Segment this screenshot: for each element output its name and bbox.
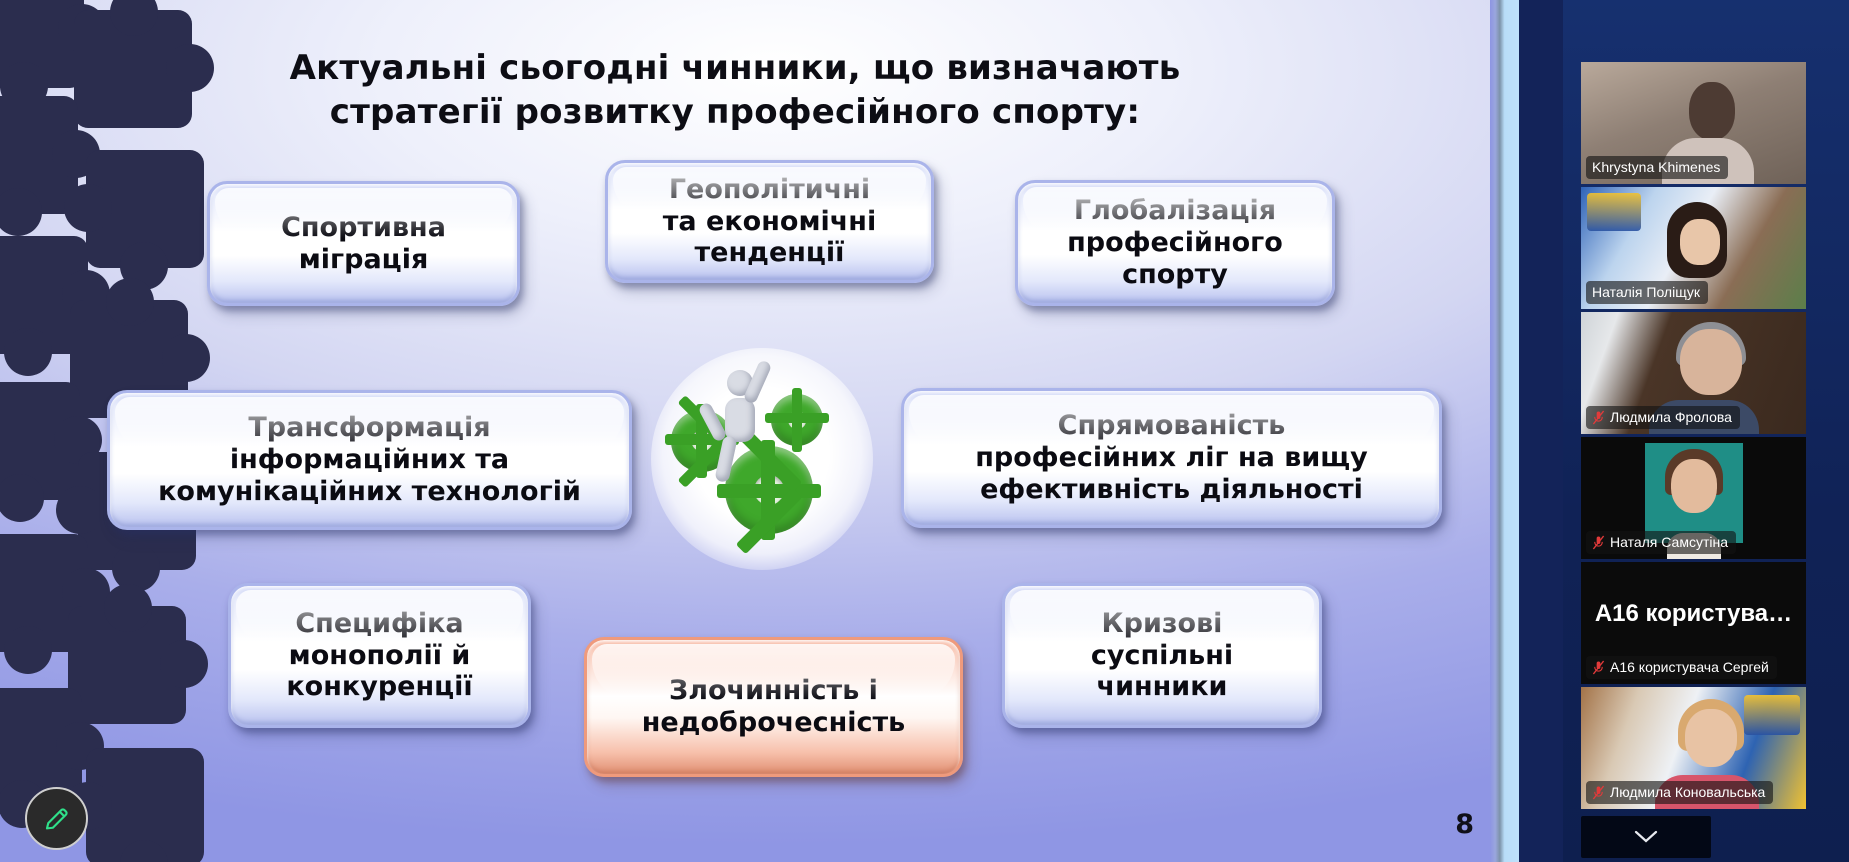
participant-name-badge: А16 користувача Сергей [1586,656,1777,679]
mic-muted-icon [1592,660,1605,675]
slide-number: 8 [1455,809,1474,840]
participant-tile[interactable]: Людмила Коновальська [1581,687,1806,809]
factor-box-league-efficiency[interactable]: Спрямованістьпрофесійних ліг на вищуефек… [901,388,1442,528]
scroll-down-button[interactable] [1581,816,1711,858]
participant-name: Наталія Поліщук [1592,284,1700,300]
participant-name-badge: Людмила Коновальська [1586,781,1773,804]
screen: Актуальні сьогодні чинники, що визначают… [0,0,1849,862]
slide-title: Актуальні сьогодні чинники, що визначают… [170,46,1300,134]
slide-canvas[interactable]: Актуальні сьогодні чинники, що визначают… [0,0,1490,862]
participant-name: Людмила Коновальська [1610,784,1765,800]
participant-name: Людмила Фролова [1610,409,1732,425]
chevron-down-icon [1633,829,1659,845]
participants-rail: Khrystyna Khimenes Наталія Поліщук [1519,0,1849,862]
slide-title-line-2: стратегії розвитку професійного спорту: [170,90,1300,134]
participant-name-badge: Людмила Фролова [1586,406,1740,429]
factor-box-sport-migration[interactable]: Спортивнаміграція [207,181,520,306]
mic-muted-icon [1592,535,1605,550]
participant-tile[interactable]: Наталія Поліщук [1581,187,1806,309]
factor-box-geopolitics[interactable]: Геополітичніта економічнітенденції [605,160,934,283]
pen-icon [42,804,72,834]
gears-with-figure-graphic [651,348,873,570]
factor-box-globalization[interactable]: Глобалізаціяпрофесійногоспорту [1015,180,1335,306]
participant-tile[interactable]: Khrystyna Khimenes [1581,62,1806,184]
participant-name: А16 користувача Сергей [1610,659,1769,675]
participant-name-badge: Наталія Поліщук [1586,281,1708,304]
participant-tile[interactable]: Наталя Самсутіна [1581,437,1806,559]
participant-name-badge: Наталя Самсутіна [1586,531,1736,554]
presentation-stage: Актуальні сьогодні чинники, що визначают… [0,0,1519,862]
factor-box-monopoly[interactable]: Специфікамонополії йконкуренції [228,583,531,728]
participant-name: Khrystyna Khimenes [1592,159,1720,175]
pen-annotate-button[interactable] [25,787,88,850]
participant-name-badge: Khrystyna Khimenes [1586,156,1728,179]
slide-right-edge [1490,0,1519,862]
participant-name: Наталя Самсутіна [1610,534,1728,550]
factor-box-crime[interactable]: Злочинність інедоброчесність [584,637,963,777]
mic-muted-icon [1592,785,1605,800]
factor-box-crisis[interactable]: Кризовісуспільнічинники [1002,583,1322,728]
participant-tile[interactable]: Людмила Фролова [1581,312,1806,434]
mic-muted-icon [1592,410,1605,425]
participant-tiles: Khrystyna Khimenes Наталія Поліщук [1581,62,1806,812]
participant-tile[interactable]: А16 користува… А16 користувача Сергей [1581,562,1806,684]
factor-box-transformation[interactable]: Трансформаціяінформаційних такомунікацій… [107,390,632,530]
slide-title-line-1: Актуальні сьогодні чинники, що визначают… [170,46,1300,90]
